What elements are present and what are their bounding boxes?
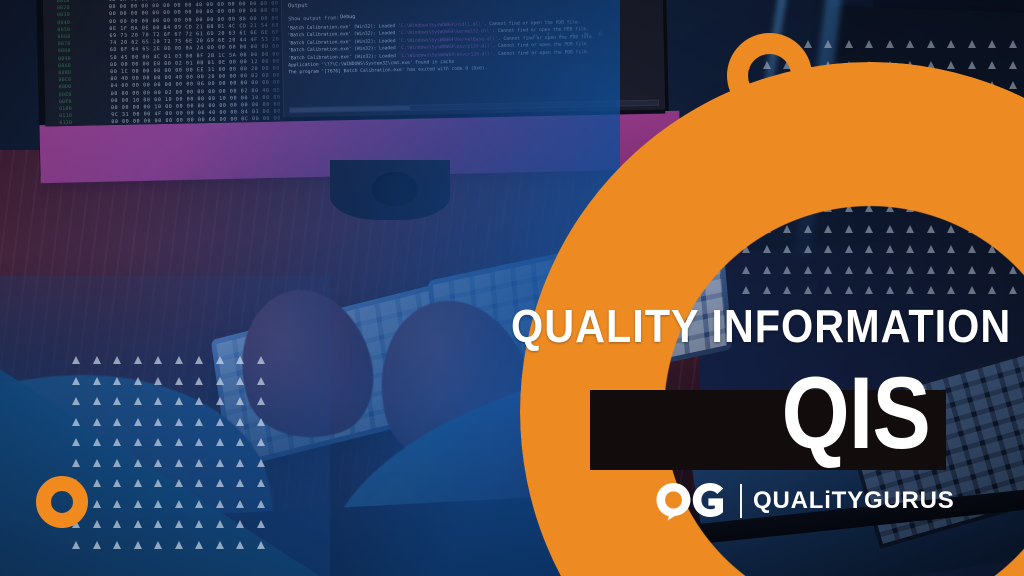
brand-logo[interactable]: QUALiTYGURUS xyxy=(655,481,955,521)
logo-divider xyxy=(740,484,742,518)
logo-wordmark-i: i xyxy=(824,487,831,514)
logo-wordmark-b: TYGURUS xyxy=(832,487,955,514)
page-title: QUALITY INFORMATION SYSTEM xyxy=(511,303,1015,349)
orange-ring-small-icon xyxy=(727,33,812,118)
qg-speech-bubble-monogram-icon xyxy=(655,481,729,521)
acronym-text: QIS xyxy=(638,362,930,464)
logo-wordmark: QUALiTYGURUS xyxy=(753,487,955,515)
banner-canvas: 0010 0020 0030 0040 0050 0060 0070 0080 … xyxy=(0,0,1024,576)
orange-ring-tiny-icon xyxy=(36,476,88,528)
logo-wordmark-a: QUAL xyxy=(753,487,824,514)
